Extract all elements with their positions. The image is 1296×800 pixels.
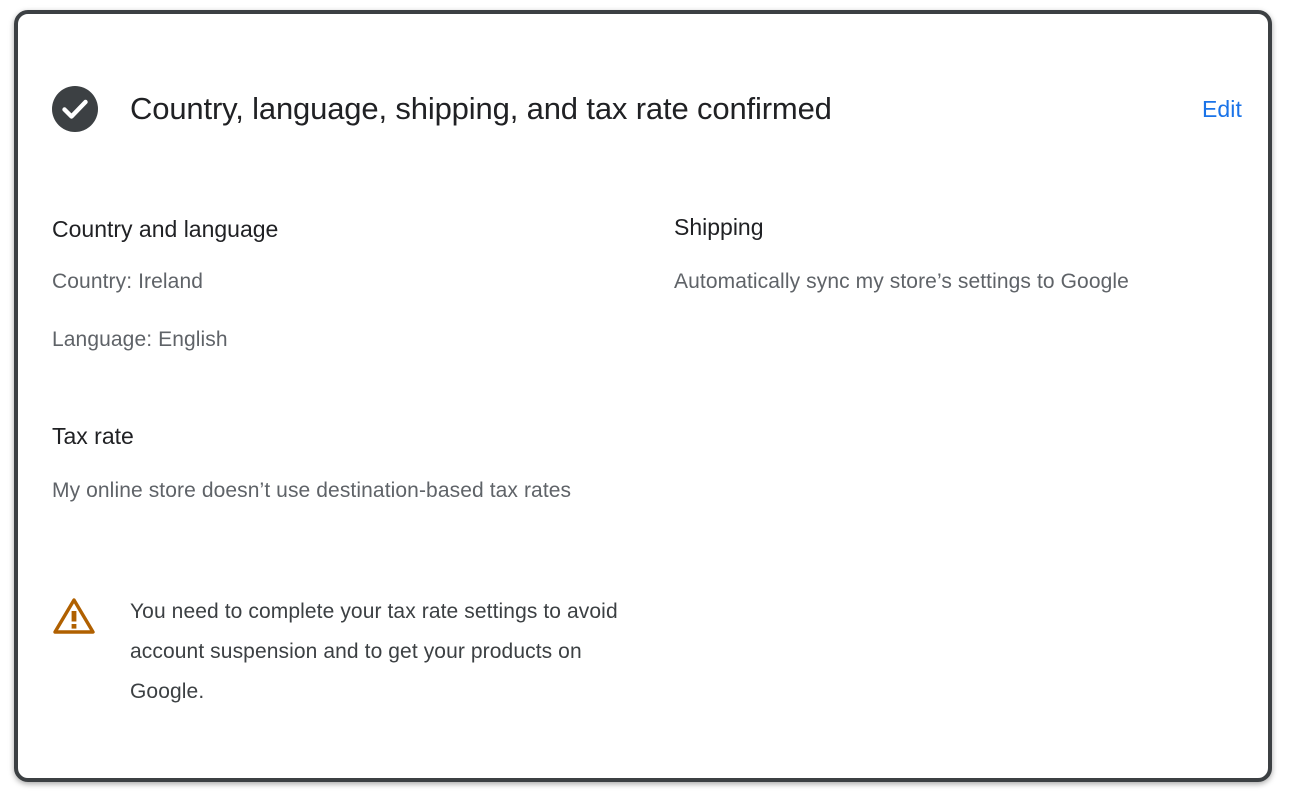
confirmation-card: Country, language, shipping, and tax rat… <box>14 10 1272 782</box>
tax-rate-warning-text: You need to complete your tax rate setti… <box>130 592 642 712</box>
screen-root: Country, language, shipping, and tax rat… <box>0 0 1296 800</box>
shipping-heading: Shipping <box>674 212 1219 242</box>
country-value: Country: Ireland <box>52 262 612 302</box>
check-circle-icon <box>52 86 98 132</box>
page-title: Country, language, shipping, and tax rat… <box>130 86 1150 132</box>
edit-link[interactable]: Edit <box>1202 90 1242 128</box>
country-and-language-heading: Country and language <box>52 214 612 244</box>
card-header: Country, language, shipping, and tax rat… <box>18 14 1268 154</box>
country-and-language-section: Country and language Country: Ireland La… <box>52 214 612 360</box>
shipping-section: Shipping Automatically sync my store’s s… <box>674 212 1219 302</box>
tax-rate-section: Tax rate My online store doesn’t use des… <box>52 421 612 511</box>
warning-triangle-icon <box>52 594 96 638</box>
tax-rate-heading: Tax rate <box>52 421 612 451</box>
card-body: Country and language Country: Ireland La… <box>18 154 1268 782</box>
shipping-value: Automatically sync my store’s settings t… <box>674 262 1219 302</box>
tax-rate-value: My online store doesn’t use destination-… <box>52 471 597 511</box>
language-value: Language: English <box>52 320 612 360</box>
tax-rate-warning: You need to complete your tax rate setti… <box>52 592 642 712</box>
